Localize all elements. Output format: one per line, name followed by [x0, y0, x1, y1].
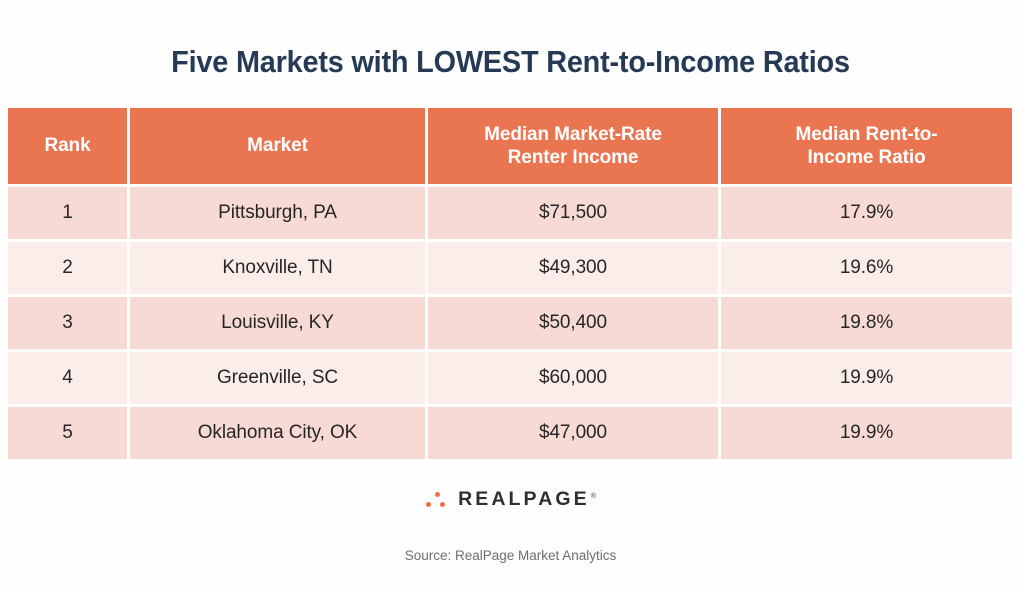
cell-income: $60,000: [428, 349, 721, 404]
column-header-market: Market: [130, 108, 428, 184]
cell-market: Oklahoma City, OK: [130, 404, 428, 459]
source-caption: Source: RealPage Market Analytics: [0, 548, 1021, 563]
infographic-page: Five Markets with LOWEST Rent-to-Income …: [0, 0, 1021, 592]
table-row: 4 Greenville, SC $60,000 19.9%: [8, 349, 1012, 404]
cell-ratio: 19.9%: [721, 404, 1012, 459]
column-header-ratio: Median Rent-to- Income Ratio: [721, 108, 1012, 184]
cell-income: $71,500: [428, 184, 721, 239]
cell-market: Knoxville, TN: [130, 239, 428, 294]
column-header-income-line-1: Median Market-Rate: [484, 124, 662, 145]
column-header-income-line-2: Renter Income: [508, 147, 639, 168]
page-title: Five Markets with LOWEST Rent-to-Income …: [36, 44, 986, 80]
cell-rank: 5: [8, 404, 130, 459]
cell-market: Greenville, SC: [130, 349, 428, 404]
rent-to-income-table: Rank Market Median Market-Rate Renter In…: [8, 108, 1012, 459]
column-header-ratio-line-2: Income Ratio: [807, 147, 925, 168]
cell-rank: 4: [8, 349, 130, 404]
cell-income: $49,300: [428, 239, 721, 294]
realpage-logo: REALPAGE®: [425, 488, 596, 511]
column-header-rank-line-1: Rank: [44, 135, 90, 156]
column-header-market-line-1: Market: [247, 135, 308, 156]
brand-logo: REALPAGE®: [0, 488, 1021, 511]
cell-market: Louisville, KY: [130, 294, 428, 349]
cell-ratio: 19.6%: [721, 239, 1012, 294]
column-header-rank: Rank: [8, 108, 130, 184]
table-row: 2 Knoxville, TN $49,300 19.6%: [8, 239, 1012, 294]
column-header-ratio-line-1: Median Rent-to-: [795, 124, 937, 145]
logo-dot-bottom-right: [440, 502, 445, 507]
trademark-icon: ®: [591, 493, 596, 500]
cell-income: $47,000: [428, 404, 721, 459]
cell-rank: 3: [8, 294, 130, 349]
realpage-wordmark-text: REALPAGE: [458, 488, 590, 510]
table-header-row: Rank Market Median Market-Rate Renter In…: [8, 108, 1012, 184]
cell-market: Pittsburgh, PA: [130, 184, 428, 239]
cell-ratio: 17.9%: [721, 184, 1012, 239]
cell-ratio: 19.8%: [721, 294, 1012, 349]
table-row: 3 Louisville, KY $50,400 19.8%: [8, 294, 1012, 349]
table-body: 1 Pittsburgh, PA $71,500 17.9% 2 Knoxvil…: [8, 184, 1012, 459]
realpage-dots-icon: [425, 490, 449, 509]
cell-ratio: 19.9%: [721, 349, 1012, 404]
cell-income: $50,400: [428, 294, 721, 349]
column-header-income: Median Market-Rate Renter Income: [428, 108, 721, 184]
table-row: 1 Pittsburgh, PA $71,500 17.9%: [8, 184, 1012, 239]
logo-dot-top: [435, 492, 440, 497]
table-header: Rank Market Median Market-Rate Renter In…: [8, 108, 1012, 184]
realpage-wordmark: REALPAGE®: [458, 488, 596, 511]
logo-dot-bottom-left: [426, 502, 431, 507]
cell-rank: 1: [8, 184, 130, 239]
cell-rank: 2: [8, 239, 130, 294]
table-row: 5 Oklahoma City, OK $47,000 19.9%: [8, 404, 1012, 459]
